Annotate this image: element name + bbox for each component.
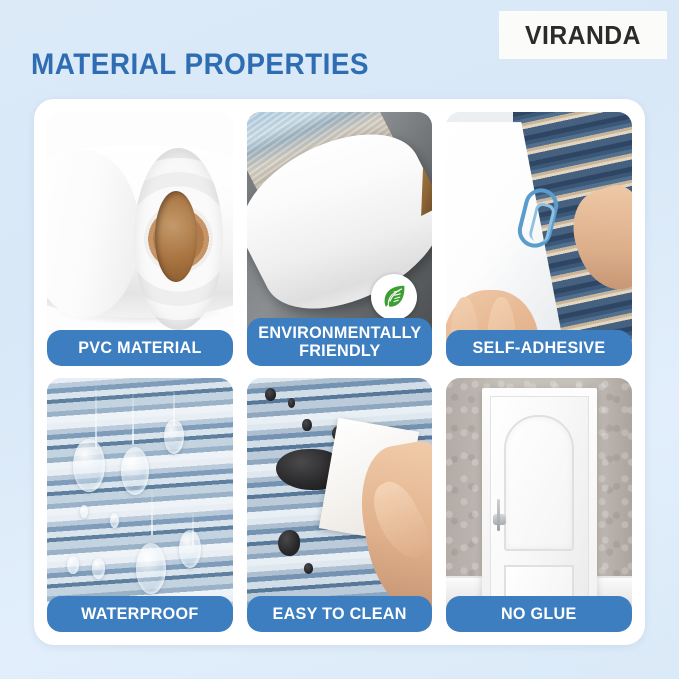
feature-card-waterproof[interactable]: WATERPROOF (47, 378, 233, 632)
feature-label-easy-to-clean: EASY TO CLEAN (247, 596, 433, 632)
page-title: MATERIAL PROPERTIES (31, 48, 369, 82)
feature-label-waterproof: WATERPROOF (47, 596, 233, 632)
feature-label-pvc-material: PVC MATERIAL (47, 330, 233, 366)
feature-label-text-line1: ENVIRONMENTALLY (258, 324, 421, 341)
brand-logo-text: VIRANDA (525, 20, 641, 51)
self-adhesive-image (446, 112, 632, 366)
feature-label-self-adhesive: SELF-ADHESIVE (446, 330, 632, 366)
feature-card-self-adhesive[interactable]: SELF-ADHESIVE (446, 112, 632, 366)
feature-label-text-line2: FRIENDLY (258, 342, 421, 359)
pvc-material-image (47, 112, 233, 366)
cards-panel: PVC MATERIAL ENVIRONMENTALL (34, 99, 645, 645)
header: MATERIAL PROPERTIES VIRANDA (0, 0, 679, 100)
feature-card-no-glue[interactable]: NO GLUE (446, 378, 632, 632)
waterproof-image (47, 378, 233, 632)
brand-logo: VIRANDA (499, 11, 667, 59)
feature-card-environmentally-friendly[interactable]: ENVIRONMENTALLY FRIENDLY (247, 112, 433, 366)
no-glue-image (446, 378, 632, 632)
feature-label-text: EASY TO CLEAN (272, 605, 406, 622)
easy-to-clean-image (247, 378, 433, 632)
feature-label-text: NO GLUE (501, 605, 577, 622)
feature-label-text: SELF-ADHESIVE (473, 339, 606, 356)
cards-grid: PVC MATERIAL ENVIRONMENTALL (47, 112, 632, 632)
feature-label-text: PVC MATERIAL (78, 339, 201, 356)
feature-label-text: WATERPROOF (81, 605, 198, 622)
feature-label-environmentally-friendly: ENVIRONMENTALLY FRIENDLY (247, 318, 433, 366)
feature-card-pvc-material[interactable]: PVC MATERIAL (47, 112, 233, 366)
door-handle-icon (493, 514, 507, 525)
feature-card-easy-to-clean[interactable]: EASY TO CLEAN (247, 378, 433, 632)
feature-label-no-glue: NO GLUE (446, 596, 632, 632)
